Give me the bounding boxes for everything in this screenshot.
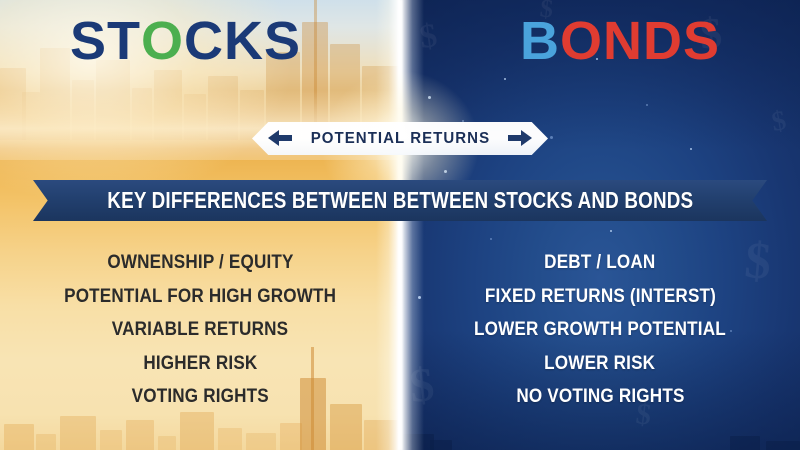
list-item: NO VOTING RIGHTS [516, 380, 684, 414]
key-differences-label: KEY DIFFERENCES BETWEEN BETWEEN STOCKS A… [107, 187, 693, 214]
bonds-title-accent-letter: B [520, 14, 560, 68]
list-item: LOWER RISK [544, 347, 655, 381]
key-differences-ribbon: KEY DIFFERENCES BETWEEN BETWEEN STOCKS A… [33, 180, 767, 221]
potential-returns-band: POTENTIAL RETURNS [252, 122, 548, 155]
arrow-left-icon [268, 130, 279, 146]
arrow-left-tail [279, 135, 292, 141]
stocks-title: STOCKS [70, 14, 301, 68]
arrow-right-icon [521, 130, 532, 146]
list-item: HIGHER RISK [143, 347, 257, 381]
list-item: FIXED RETURNS (INTERST) [484, 280, 715, 314]
bonds-title-part-2: ONDS [560, 14, 720, 68]
infographic-root: $ $ $ $ $ $ $ STOCKS BONDS [0, 0, 800, 450]
bonds-title: BONDS [520, 14, 720, 68]
bonds-feature-list: DEBT / LOAN FIXED RETURNS (INTERST) LOWE… [400, 246, 800, 414]
list-item: POTENTIAL FOR HIGH GROWTH [64, 280, 336, 314]
stocks-title-accent-letter: O [141, 14, 184, 68]
stocks-title-part-1: ST [70, 14, 141, 68]
stocks-feature-list: OWNENSHIP / EQUITY POTENTIAL FOR HIGH GR… [0, 246, 400, 414]
stocks-title-part-3: CKS [184, 14, 301, 68]
potential-returns-label: POTENTIAL RETURNS [310, 130, 489, 148]
list-item: OWNENSHIP / EQUITY [107, 246, 293, 280]
arrow-right-tail [508, 135, 521, 141]
list-item: LOWER GROWTH POTENTIAL [474, 313, 726, 347]
list-item: VARIABLE RETURNS [112, 313, 288, 347]
list-item: VOTING RIGHTS [131, 380, 268, 414]
list-item: DEBT / LOAN [544, 246, 655, 280]
